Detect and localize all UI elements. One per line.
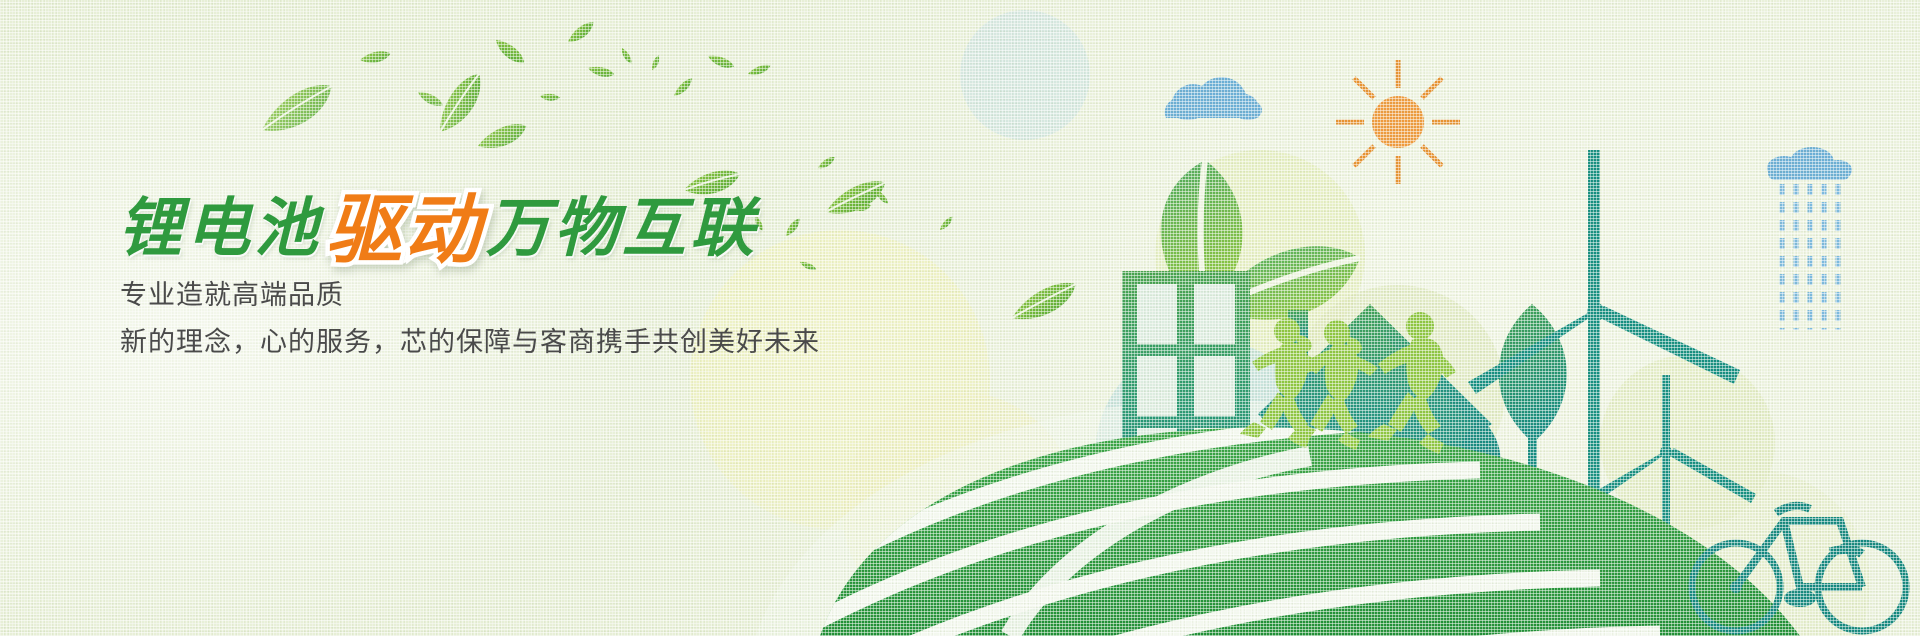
eco-banner: 锂电池驱动万物互联 专业造就高端品质 新的理念，心的服务，芯的保障与客商携手共创… (0, 0, 1920, 636)
decorative-circle-teal-top (960, 10, 1090, 140)
subtitle-line-1: 专业造就高端品质 (120, 273, 344, 312)
subtitle-line-2: 新的理念，心的服务，芯的保障与客商携手共创美好未来 (120, 320, 820, 359)
headline-part-3: 万物互联 (486, 197, 758, 261)
headline-part-2: 驱动 (326, 192, 482, 268)
decorative-circle-olive-right (1290, 285, 1505, 500)
decorative-circle-yellow-medium (842, 392, 1077, 627)
headline-part-1: 锂电池 (118, 197, 322, 261)
headline: 锂电池驱动万物互联 (118, 186, 758, 262)
